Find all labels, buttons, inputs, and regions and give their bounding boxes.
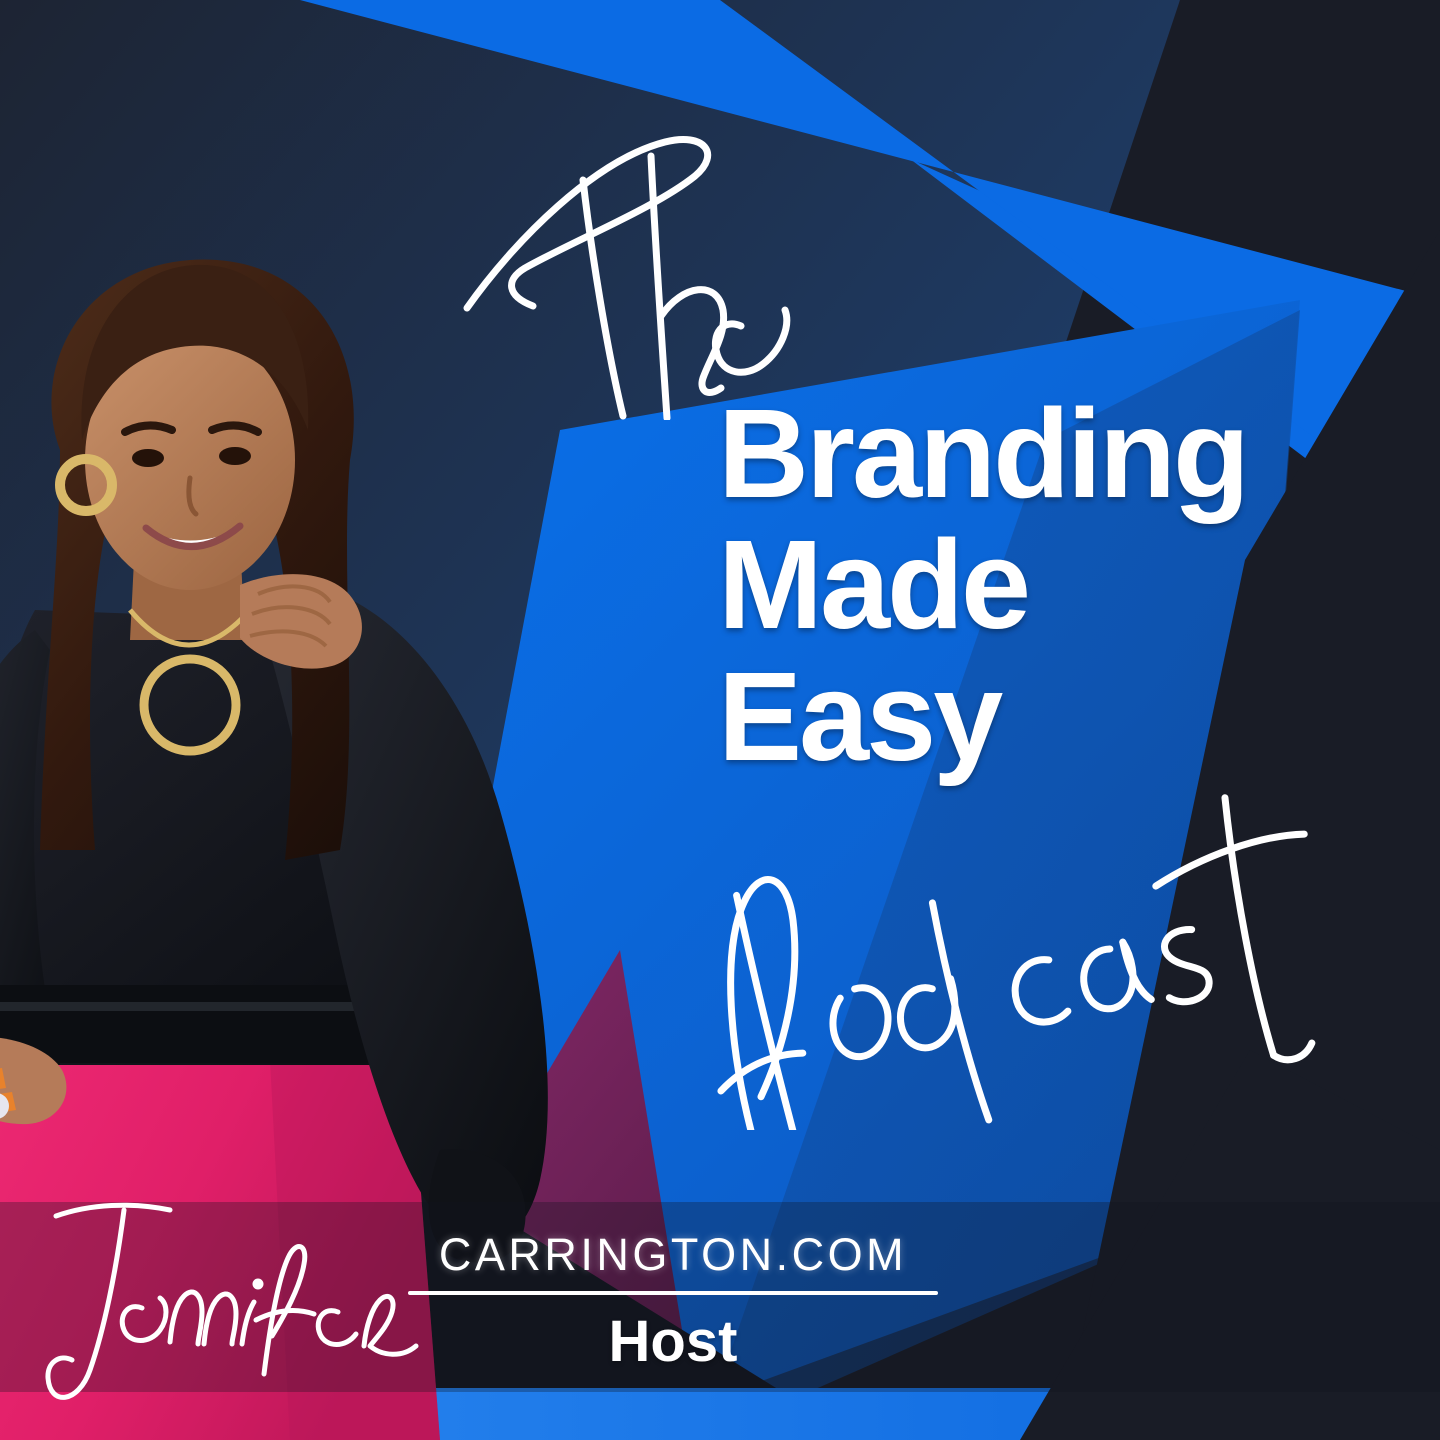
title-line-easy: Easy [718, 655, 1418, 778]
photo-belt-highlight [0, 1002, 412, 1011]
podcast-title-block: Branding Made Easy [718, 392, 1418, 778]
podcast-cover-art: Branding Made Easy [0, 0, 1440, 1440]
photo-belt [0, 985, 412, 1063]
domain-underline-rule [408, 1291, 938, 1295]
photo-eye-left [132, 449, 164, 467]
host-role-label: Host [408, 1313, 938, 1371]
title-line-made: Made [718, 523, 1418, 646]
title-line-branding: Branding [718, 392, 1418, 515]
host-credit-block: CARRINGTON.COM Host [408, 1232, 938, 1371]
website-domain-text: CARRINGTON.COM [408, 1232, 938, 1277]
photo-eye-right [219, 447, 251, 465]
